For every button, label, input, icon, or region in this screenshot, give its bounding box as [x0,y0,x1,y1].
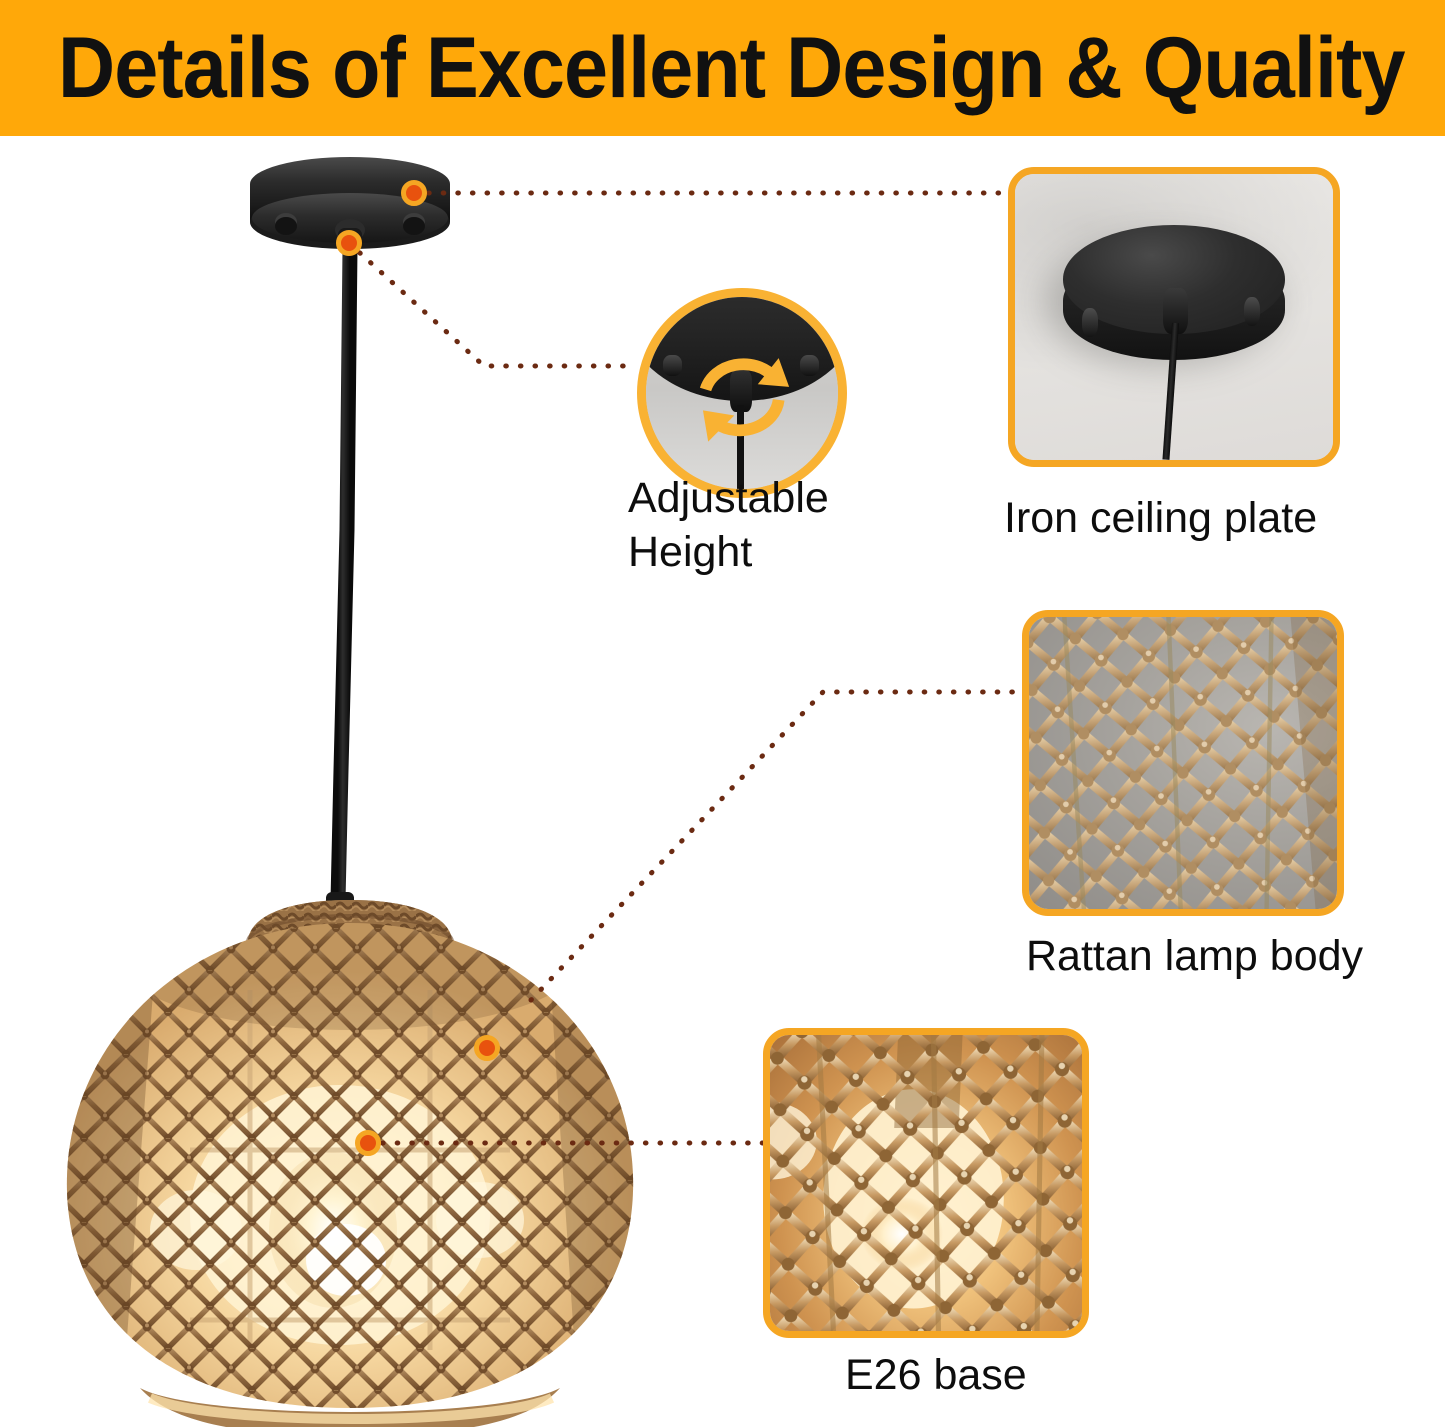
marker-shade-upper[interactable] [474,1035,500,1061]
marker-cord-joint[interactable] [336,230,362,256]
rattan-shade [0,890,700,1427]
product-hero-image [0,130,700,1427]
callout-adjustable-height[interactable] [637,288,847,498]
callout-iron-ceiling-plate[interactable] [1008,167,1340,467]
shade-interior [0,890,700,1427]
pendant-lamp-illustration [0,130,700,1427]
hanging-cord [326,248,354,922]
header-banner: Details of Excellent Design & Quality [0,0,1445,136]
rattan-lamp-body-photo [1029,617,1337,909]
marker-ceiling-plate-edge[interactable] [401,180,427,206]
page-title: Details of Excellent Design & Quality [58,20,1405,116]
callout-e26-base[interactable] [763,1028,1089,1338]
callout-rattan-lamp-body[interactable] [1022,610,1344,916]
product-detail-infographic: Details of Excellent Design & Quality [0,0,1445,1427]
caption-adjustable-height: Adjustable Height [628,471,928,579]
adjustable-height-photo [646,297,838,489]
e26-base-photo [770,1035,1082,1331]
caption-iron-ceiling-plate: Iron ceiling plate [1004,491,1404,545]
caption-rattan-lamp-body: Rattan lamp body [1026,929,1445,983]
rotate-arrow-icon [673,332,811,463]
caption-e26-base: E26 base [845,1348,1245,1402]
marker-shade-bulb[interactable] [355,1130,381,1156]
iron-ceiling-plate-photo [1015,174,1333,460]
